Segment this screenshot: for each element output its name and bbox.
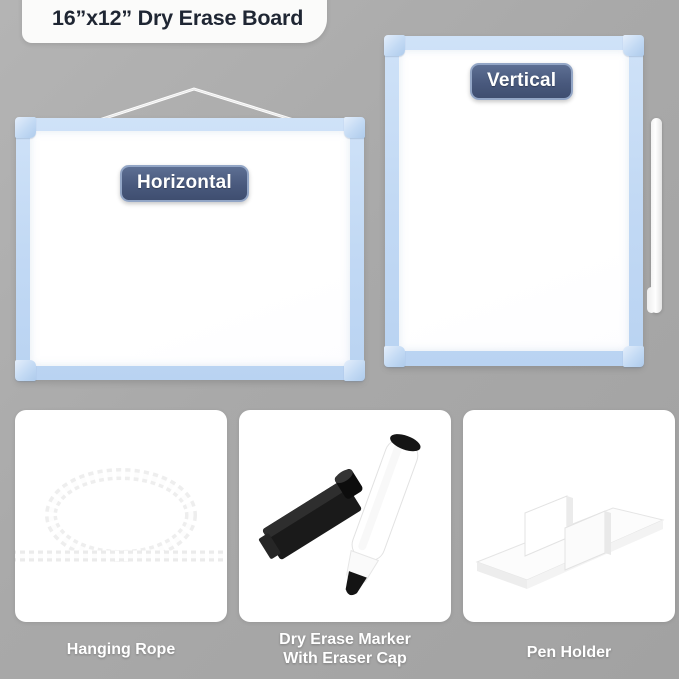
caption-hanging-rope: Hanging Rope: [15, 640, 227, 659]
board-label-vertical: Vertical: [470, 63, 573, 100]
pen-holder-rail-on-board: [651, 118, 662, 313]
dry-erase-marker-icon: [239, 410, 451, 622]
hanging-rope-icon: [15, 410, 227, 622]
caption-line: Pen Holder: [463, 643, 675, 662]
caption-line: With Eraser Cap: [239, 649, 451, 668]
frame-corner-top-left: [384, 35, 405, 56]
frame-corner-top-right: [623, 35, 644, 56]
caption-line: Hanging Rope: [15, 640, 227, 659]
accessory-card-hanging-rope: [15, 410, 227, 622]
frame-corner-bottom-left: [384, 346, 405, 367]
accessory-card-dry-erase-marker: [239, 410, 451, 622]
board-label-text: Vertical: [487, 70, 556, 91]
accessory-card-pen-holder: [463, 410, 675, 622]
page-title: 16”x12” Dry Erase Board: [52, 6, 303, 30]
caption-pen-holder: Pen Holder: [463, 643, 675, 662]
board-label-horizontal: Horizontal: [120, 165, 249, 202]
title-badge: 16”x12” Dry Erase Board: [22, 0, 327, 43]
frame-corner-top-left: [15, 117, 36, 138]
frame-corner-top-right: [344, 117, 365, 138]
frame-corner-bottom-right: [344, 360, 365, 381]
frame-corner-bottom-left: [15, 360, 36, 381]
infographic-canvas: 16”x12” Dry Erase Board Horizontal Verti…: [0, 0, 679, 679]
frame-corner-bottom-right: [623, 346, 644, 367]
board-label-text: Horizontal: [137, 172, 232, 193]
whiteboard-horizontal: [16, 118, 364, 380]
pen-holder-icon: [463, 410, 675, 622]
caption-dry-erase-marker: Dry Erase Marker With Eraser Cap: [239, 630, 451, 668]
caption-line: Dry Erase Marker: [239, 630, 451, 649]
